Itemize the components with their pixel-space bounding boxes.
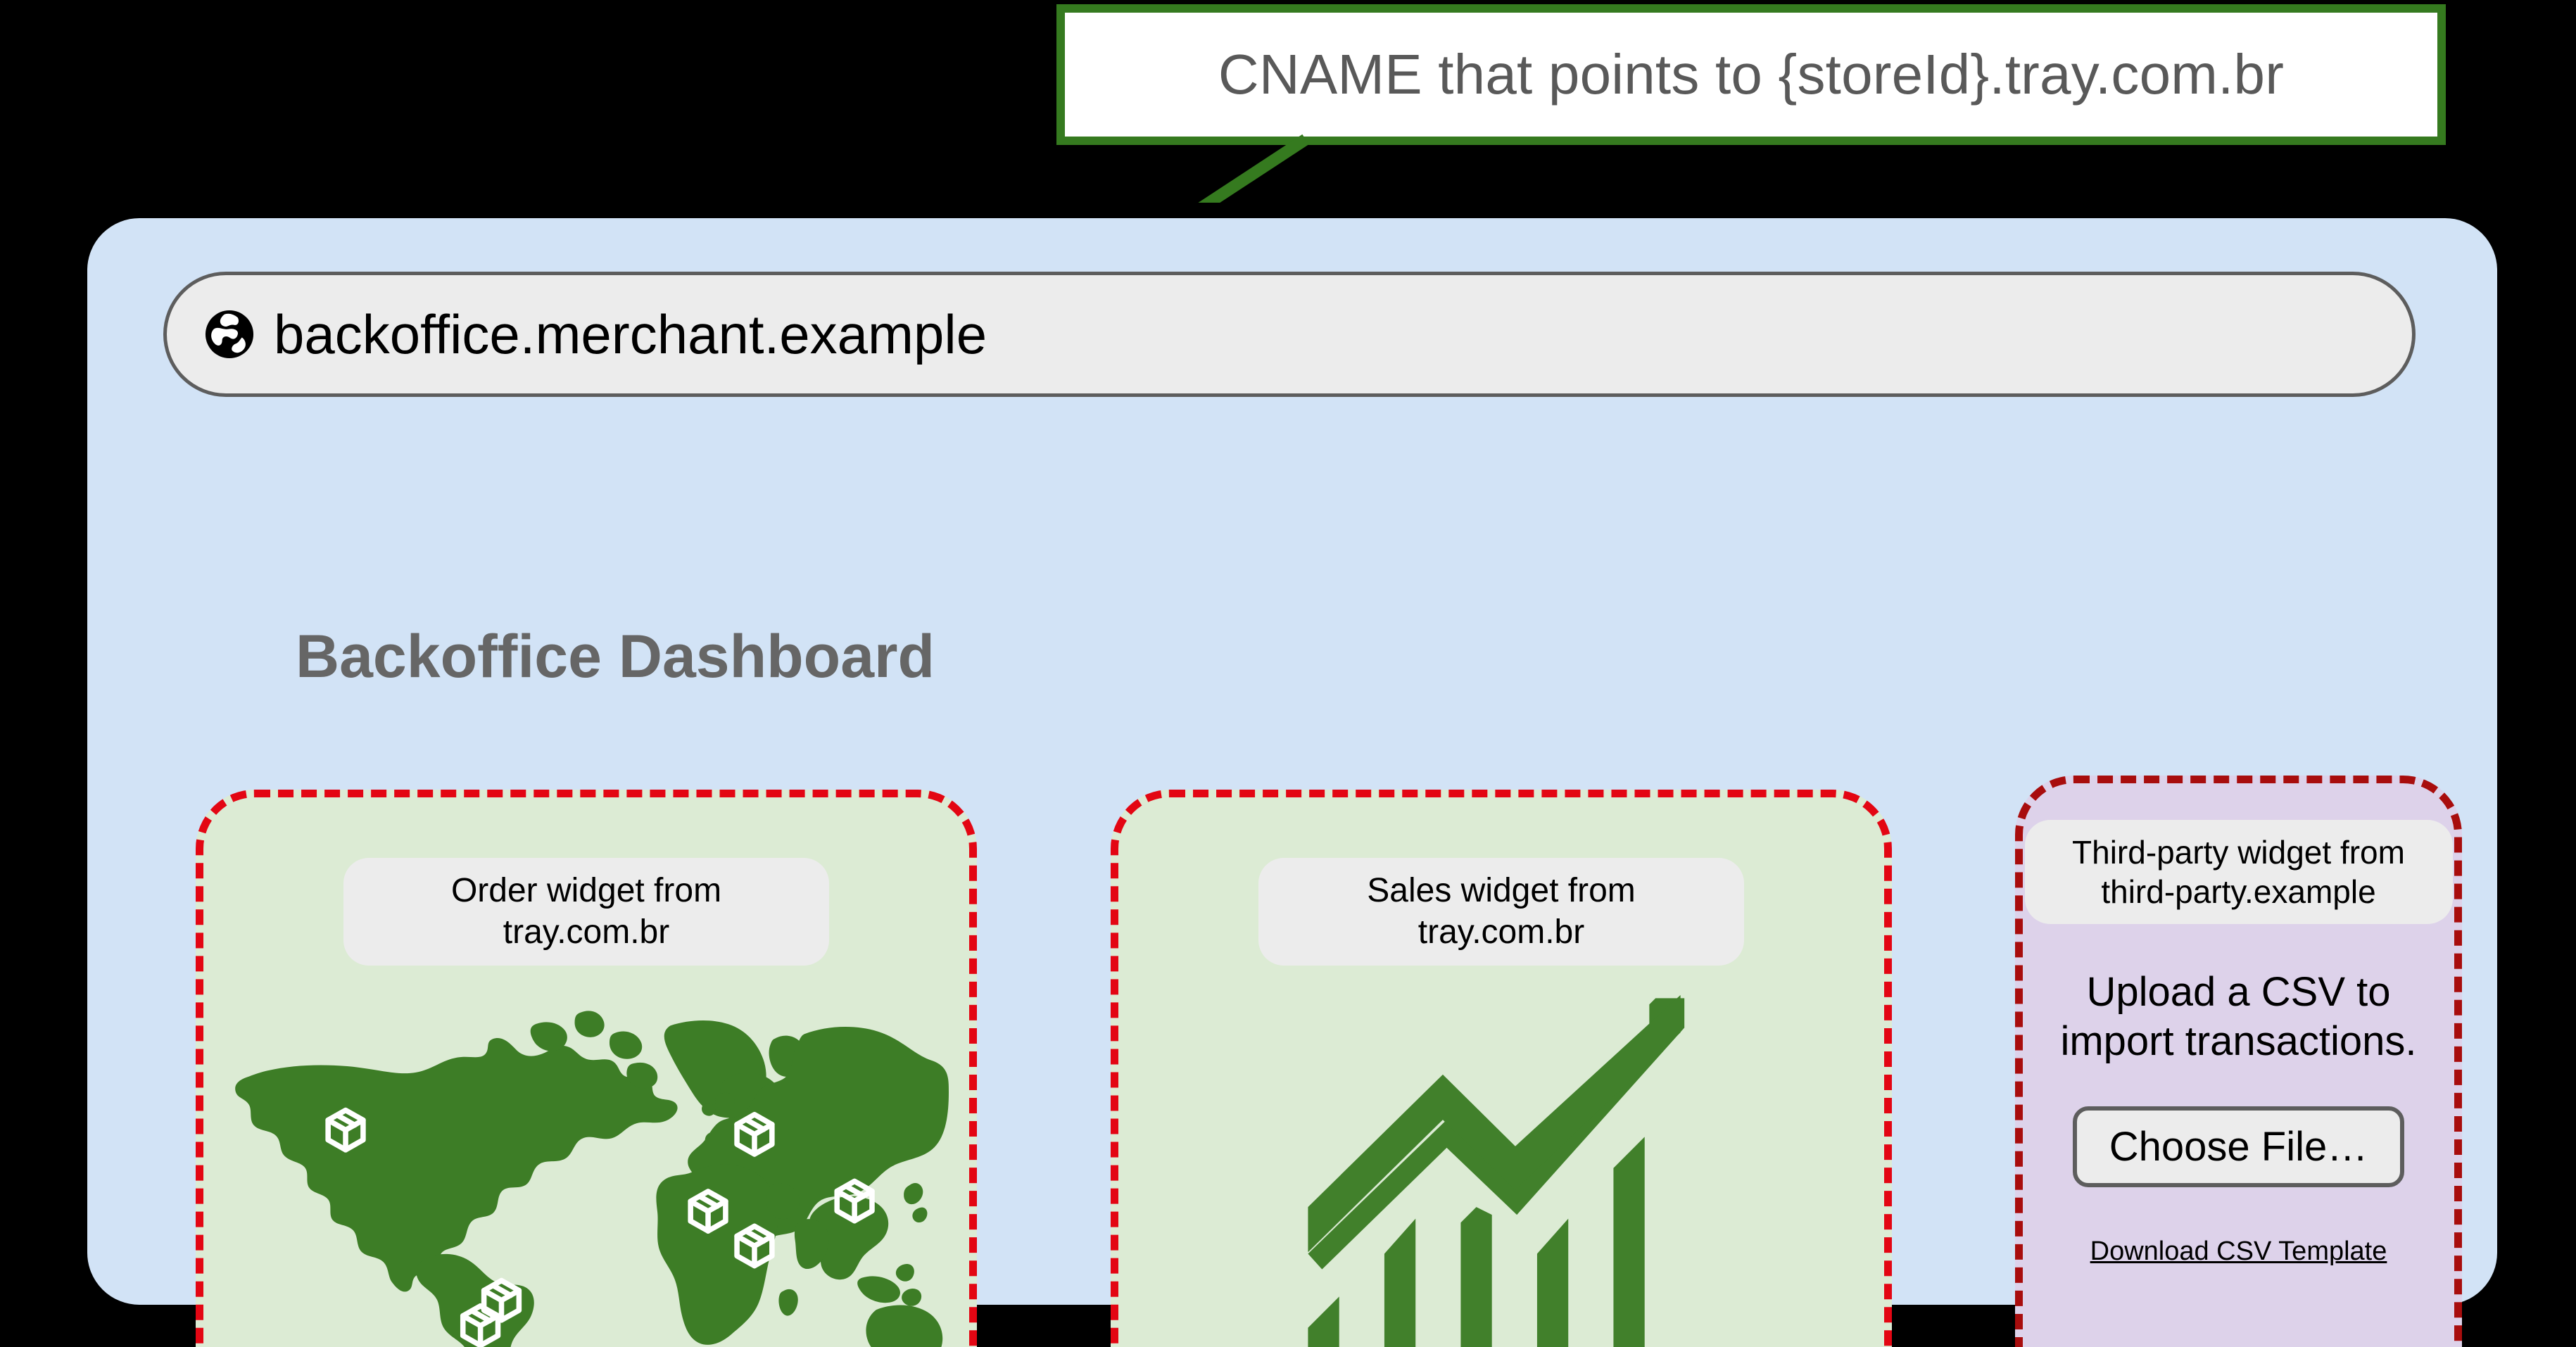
widget-label-third-party: Third-party widget from third-party.exam… bbox=[2025, 820, 2453, 924]
widget-label-orders: Order widget from tray.com.br bbox=[343, 858, 829, 966]
upload-instruction-line1: Upload a CSV to bbox=[2086, 969, 2390, 1015]
upload-instruction-text: Upload a CSV to import transactions. bbox=[2060, 968, 2416, 1065]
widget-cards-row: Order widget from tray.com.br bbox=[196, 767, 2462, 1347]
upload-instruction-line2: import transactions. bbox=[2060, 1018, 2416, 1064]
browser-window: backoffice.merchant.example Backoffice D… bbox=[72, 203, 2513, 1320]
widget-label-orders-line2: tray.com.br bbox=[503, 913, 669, 951]
widget-card-orders[interactable]: Order widget from tray.com.br bbox=[196, 790, 977, 1347]
widget-label-sales: Sales widget from tray.com.br bbox=[1258, 858, 1744, 966]
callout-text: CNAME that points to {storeId}.tray.com.… bbox=[1218, 42, 2284, 107]
callout-box: CNAME that points to {storeId}.tray.com.… bbox=[1056, 4, 2446, 145]
url-bar[interactable]: backoffice.merchant.example bbox=[163, 272, 2416, 397]
globe-icon bbox=[203, 308, 255, 360]
widget-label-sales-line1: Sales widget from bbox=[1367, 872, 1636, 909]
choose-file-button[interactable]: Choose File… bbox=[2073, 1106, 2404, 1187]
widget-label-third-party-line1: Third-party widget from bbox=[2072, 834, 2405, 871]
widget-label-sales-line2: tray.com.br bbox=[1418, 913, 1584, 951]
url-input-value[interactable]: backoffice.merchant.example bbox=[274, 303, 987, 367]
growth-chart-icon bbox=[1283, 981, 1719, 1347]
widget-card-third-party[interactable]: Third-party widget from third-party.exam… bbox=[2015, 776, 2462, 1347]
world-map-icon bbox=[224, 989, 949, 1347]
download-csv-template-link[interactable]: Download CSV Template bbox=[2090, 1237, 2387, 1267]
widget-label-orders-line1: Order widget from bbox=[451, 872, 721, 909]
page-title: Backoffice Dashboard bbox=[296, 622, 935, 692]
widget-label-third-party-line2: third-party.example bbox=[2101, 873, 2375, 910]
widget-card-sales[interactable]: Sales widget from tray.com.br bbox=[1111, 790, 1892, 1347]
